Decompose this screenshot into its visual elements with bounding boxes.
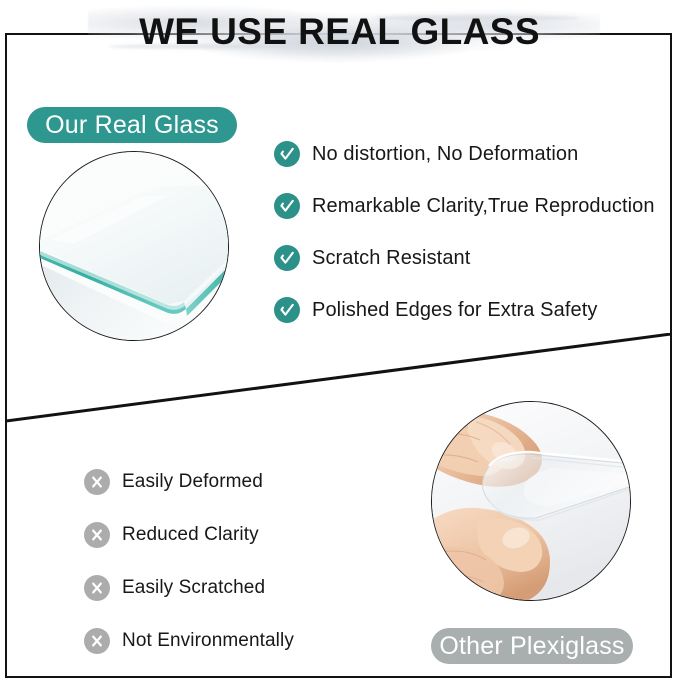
check-icon	[274, 193, 300, 219]
list-item-label: Not Environmentally	[122, 630, 294, 652]
badge-our-real-glass: Our Real Glass	[27, 107, 237, 143]
list-item-label: Reduced Clarity	[122, 524, 259, 546]
list-item-label: No distortion, No Deformation	[312, 143, 578, 166]
list-item: Not Environmentally	[84, 614, 414, 667]
x-icon	[84, 469, 110, 495]
real-glass-photo	[39, 151, 229, 341]
glass-pane-illustration	[40, 152, 228, 340]
disadvantages-list: Easily Deformed Reduced Clarity Easily S…	[84, 455, 414, 667]
comparison-infographic: WE USE REAL GLASS Our Real Glass	[0, 0, 679, 691]
list-item-label: Polished Edges for Extra Safety	[312, 299, 597, 322]
list-item: Easily Deformed	[84, 455, 414, 508]
list-item: Polished Edges for Extra Safety	[274, 284, 674, 336]
x-icon	[84, 522, 110, 548]
list-item-label: Remarkable Clarity,True Reproduction	[312, 195, 655, 218]
list-item: Reduced Clarity	[84, 508, 414, 561]
advantages-list: No distortion, No Deformation Remarkable…	[274, 128, 674, 336]
list-item: Easily Scratched	[84, 561, 414, 614]
page-title: WE USE REAL GLASS	[0, 8, 679, 56]
check-icon	[274, 141, 300, 167]
badge-other-plexiglass: Other Plexiglass	[431, 628, 633, 664]
list-item-label: Scratch Resistant	[312, 247, 470, 270]
check-icon	[274, 297, 300, 323]
x-icon	[84, 575, 110, 601]
x-icon	[84, 628, 110, 654]
badge-other-plexiglass-label: Other Plexiglass	[439, 632, 624, 661]
hand-bending-sheet-illustration	[432, 402, 630, 600]
check-icon	[274, 245, 300, 271]
list-item-label: Easily Scratched	[122, 577, 265, 599]
list-item: Remarkable Clarity,True Reproduction	[274, 180, 674, 232]
list-item: No distortion, No Deformation	[274, 128, 674, 180]
list-item: Scratch Resistant	[274, 232, 674, 284]
badge-our-real-glass-label: Our Real Glass	[45, 111, 219, 140]
list-item-label: Easily Deformed	[122, 471, 263, 493]
plexiglass-photo	[431, 401, 631, 601]
headline-banner: WE USE REAL GLASS	[0, 0, 679, 78]
